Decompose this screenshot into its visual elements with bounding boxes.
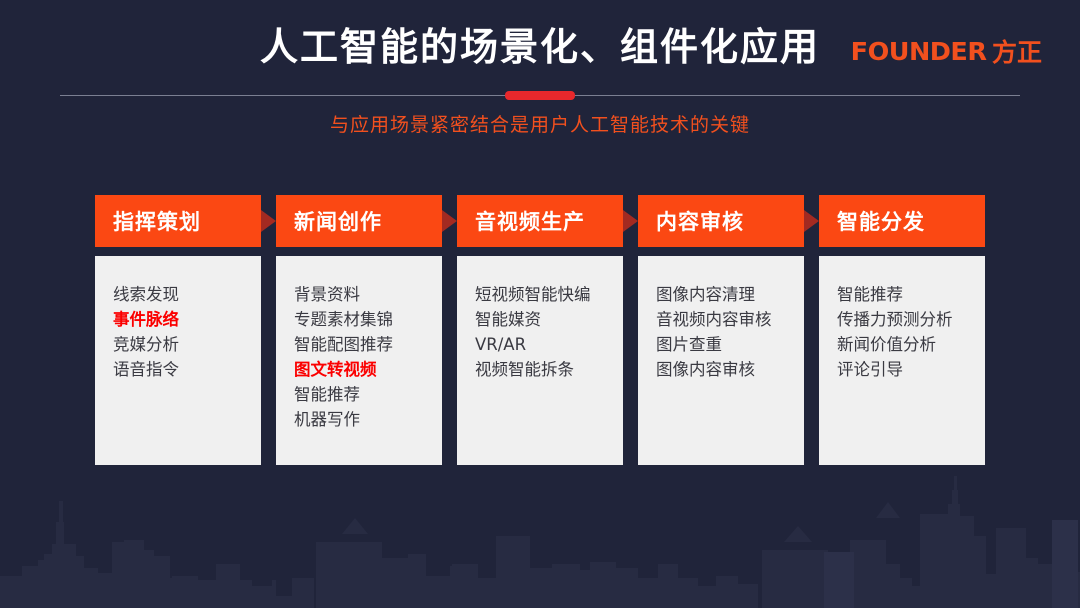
card-item[interactable]: 背景资料 [294, 282, 442, 307]
card-item[interactable]: 竞媒分析 [113, 332, 261, 357]
logo-text-en: FOUNDER [851, 37, 987, 66]
card-body: 背景资料专题素材集锦智能配图推荐图文转视频智能推荐机器写作 [276, 256, 442, 465]
card-body: 智能推荐传播力预测分析新闻价值分析评论引导 [819, 256, 985, 465]
header-divider-accent [505, 91, 575, 100]
card-item[interactable]: 智能媒资 [475, 307, 623, 332]
workflow-card[interactable]: 新闻创作背景资料专题素材集锦智能配图推荐图文转视频智能推荐机器写作 [276, 195, 442, 465]
card-item[interactable]: 图像内容清理 [656, 282, 804, 307]
card-item[interactable]: 智能推荐 [294, 382, 442, 407]
card-body: 短视频智能快编智能媒资VR/AR视频智能拆条 [457, 256, 623, 465]
card-item[interactable]: VR/AR [475, 332, 623, 357]
card-header: 指挥策划 [95, 195, 261, 247]
card-item[interactable]: 智能配图推荐 [294, 332, 442, 357]
card-item[interactable]: 语音指令 [113, 357, 261, 382]
arrow-right-icon [623, 210, 638, 232]
card-header: 内容审核 [638, 195, 804, 247]
workflow-card[interactable]: 指挥策划线索发现事件脉络竞媒分析语音指令 [95, 195, 261, 465]
workflow-card-row: 指挥策划线索发现事件脉络竞媒分析语音指令新闻创作背景资料专题素材集锦智能配图推荐… [95, 195, 985, 465]
card-header: 智能分发 [819, 195, 985, 247]
card-item[interactable]: 机器写作 [294, 407, 442, 432]
card-item[interactable]: 新闻价值分析 [837, 332, 985, 357]
arrow-right-icon [442, 210, 457, 232]
arrow-right-icon [261, 210, 276, 232]
card-item[interactable]: 图片查重 [656, 332, 804, 357]
page-subtitle: 与应用场景紧密结合是用户人工智能技术的关键 [0, 112, 1080, 138]
workflow-card[interactable]: 音视频生产短视频智能快编智能媒资VR/AR视频智能拆条 [457, 195, 623, 465]
card-item[interactable]: 音视频内容审核 [656, 307, 804, 332]
card-item[interactable]: 视频智能拆条 [475, 357, 623, 382]
card-item-highlighted[interactable]: 事件脉络 [113, 307, 261, 332]
logo-text-cn: 方正 [992, 33, 1042, 69]
city-skyline-decoration [0, 468, 1080, 608]
card-item[interactable]: 专题素材集锦 [294, 307, 442, 332]
workflow-card[interactable]: 智能分发智能推荐传播力预测分析新闻价值分析评论引导 [819, 195, 985, 465]
workflow-card[interactable]: 内容审核图像内容清理音视频内容审核图片查重图像内容审核 [638, 195, 804, 465]
card-item-highlighted[interactable]: 图文转视频 [294, 357, 442, 382]
arrow-right-icon [804, 210, 819, 232]
card-header: 新闻创作 [276, 195, 442, 247]
card-header: 音视频生产 [457, 195, 623, 247]
slide-canvas: 人工智能的场景化、组件化应用 FOUNDER 方正 与应用场景紧密结合是用户人工… [0, 0, 1080, 608]
founder-logo: FOUNDER 方正 [852, 33, 1042, 69]
card-item[interactable]: 线索发现 [113, 282, 261, 307]
card-item[interactable]: 短视频智能快编 [475, 282, 623, 307]
card-item[interactable]: 传播力预测分析 [837, 307, 985, 332]
card-body: 线索发现事件脉络竞媒分析语音指令 [95, 256, 261, 465]
card-item[interactable]: 评论引导 [837, 357, 985, 382]
card-item[interactable]: 智能推荐 [837, 282, 985, 307]
card-item[interactable]: 图像内容审核 [656, 357, 804, 382]
card-body: 图像内容清理音视频内容审核图片查重图像内容审核 [638, 256, 804, 465]
